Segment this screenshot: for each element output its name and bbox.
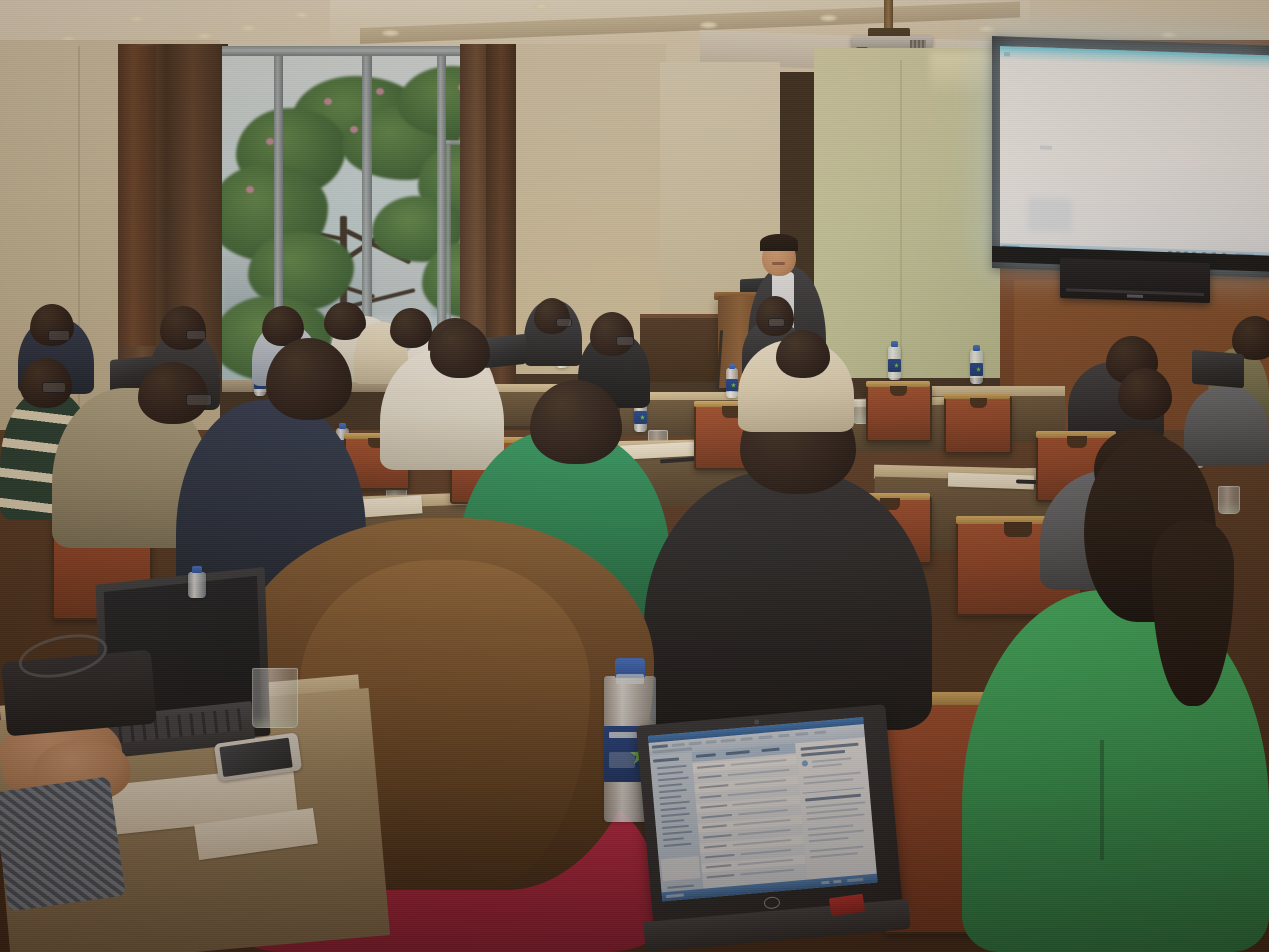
downlight-icon [978,26,995,32]
shirt-cuff [0,776,126,911]
wall-panel-seam [900,60,902,360]
downlight-icon [240,25,257,31]
attendee-laptop[interactable] [1192,350,1244,389]
blossom-icon [266,138,274,145]
downlight-icon [128,16,145,22]
blossom-icon [350,126,358,133]
screen-faint-text [1040,145,1052,149]
blossom-icon [376,88,384,95]
glasses-icon [556,318,572,327]
glasses-icon [48,330,70,341]
attendee-head [534,298,570,334]
downlight-icon [533,3,550,9]
foreground-laptop-hp[interactable] [636,704,905,951]
presenter-smile [772,262,785,265]
downlight-icon [293,12,310,18]
downlight-icon [382,30,399,36]
glasses-icon [616,336,634,346]
water-glass[interactable] [1218,486,1240,514]
downlight-icon [700,22,717,28]
window-door-stile [446,140,451,340]
attendee-laptop[interactable] [484,334,526,368]
attendee-head [390,308,432,348]
phone-screen[interactable] [219,738,292,777]
attendee-head [776,330,830,378]
conference-room-photo: Business seminar in a hotel conference r… [0,0,1269,952]
attendee-head [590,312,634,356]
glasses-icon [186,330,206,340]
attendee-head [160,306,206,350]
downlight-icon [1160,32,1177,38]
wall-green-panel [814,48,1014,378]
projection-screen[interactable] [1000,46,1269,263]
message-list[interactable] [692,743,808,889]
laptop-screen[interactable] [648,717,878,901]
blossom-icon [246,186,254,193]
water-bottle[interactable] [970,350,983,384]
glasses-icon [42,382,66,393]
presenter-hair [760,234,798,251]
glasses-icon [186,394,212,406]
display-logo [1127,294,1143,298]
attendee-head [138,362,208,424]
avatar [802,760,809,767]
downlight-icon [196,33,213,39]
blossom-icon [324,98,332,105]
screen-faint-block [1028,197,1072,233]
banquet-chair[interactable] [866,384,932,442]
projector-mount-pole [884,0,893,30]
screen-corner-artifact [1004,52,1010,56]
bottle-neck [616,674,644,684]
reading-pane[interactable] [795,737,877,880]
attendee-head [1118,368,1172,420]
wood-column-left [118,46,156,346]
blouse-placket [1100,740,1104,860]
window-head-rail [222,46,490,56]
water-bottle[interactable] [888,346,901,380]
wood-column-mid [486,44,516,384]
water-bottle[interactable] [726,368,738,398]
nav-selected-item[interactable] [661,856,701,881]
attendee-head [756,296,794,336]
banquet-chair[interactable] [944,396,1012,454]
attendee-head [430,322,490,378]
glasses-icon [768,318,785,327]
wall-display[interactable] [1060,258,1210,303]
downlight-icon [820,15,837,21]
attendee-torso [1184,386,1269,466]
water-bottle[interactable] [188,572,206,598]
water-glass[interactable] [252,668,298,728]
